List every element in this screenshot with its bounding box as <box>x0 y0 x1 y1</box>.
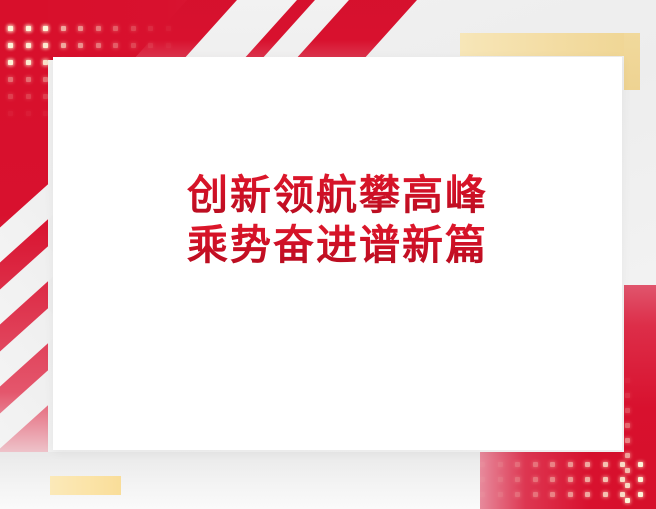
decor-dot <box>480 492 485 497</box>
page-title: 创新领航攀高峰 乘势奋进谱新篇 <box>53 170 622 270</box>
decor-dot <box>533 462 538 467</box>
decor-dot <box>568 492 573 497</box>
decor-dot <box>8 111 13 116</box>
dot-matrix-top-left-column <box>8 26 45 116</box>
decor-dot <box>480 477 485 482</box>
gold-accent-bar-bottom-left <box>50 476 121 495</box>
decor-dot <box>550 492 555 497</box>
decor-dot <box>43 77 48 82</box>
decor-dot <box>603 477 608 482</box>
decor-dot <box>148 26 153 31</box>
decor-dot <box>625 498 630 503</box>
decor-dot <box>113 43 118 48</box>
decor-dot <box>625 408 630 413</box>
gold-bracket-vertical-icon <box>624 33 640 90</box>
decor-dot <box>8 94 13 99</box>
decor-dot <box>585 462 590 467</box>
decor-dot <box>96 43 101 48</box>
decor-dot <box>550 462 555 467</box>
decor-dot <box>26 43 31 48</box>
title-line-1: 创新领航攀高峰 <box>53 170 622 220</box>
decor-dot <box>43 26 48 31</box>
decor-dot <box>8 77 13 82</box>
decor-dot <box>550 477 555 482</box>
decor-dot <box>625 438 630 443</box>
decor-dot <box>498 477 503 482</box>
poster-canvas: 创新领航攀高峰 乘势奋进谱新篇 <box>0 0 656 509</box>
decor-dot <box>625 393 630 398</box>
decor-dot <box>131 26 136 31</box>
decor-dot <box>625 453 630 458</box>
decor-dot <box>26 111 31 116</box>
decor-dot <box>78 43 83 48</box>
decor-dot <box>8 26 13 31</box>
decor-dot <box>26 77 31 82</box>
decor-dot <box>498 462 503 467</box>
decor-dot <box>625 483 630 488</box>
decor-dot <box>568 477 573 482</box>
decor-dot <box>533 477 538 482</box>
decor-dot <box>498 492 503 497</box>
decor-dot <box>96 26 101 31</box>
dot-matrix-bottom-right <box>480 462 648 506</box>
decor-dot <box>603 492 608 497</box>
decor-dot <box>515 477 520 482</box>
dot-matrix-right-column <box>625 378 645 506</box>
decor-dot <box>625 468 630 473</box>
decor-dot <box>568 462 573 467</box>
decor-dot <box>43 60 48 65</box>
decor-dot <box>585 492 590 497</box>
title-line-2: 乘势奋进谱新篇 <box>53 220 622 270</box>
decor-dot <box>166 26 171 31</box>
decor-dot <box>603 462 608 467</box>
decor-dot <box>113 26 118 31</box>
decor-dot <box>61 26 66 31</box>
decor-dot <box>515 492 520 497</box>
decor-dot <box>43 94 48 99</box>
decor-dot <box>43 111 48 116</box>
decor-dot <box>26 94 31 99</box>
gold-bracket-horizontal-icon <box>460 33 640 56</box>
decor-dot <box>480 462 485 467</box>
decor-dot <box>26 26 31 31</box>
decor-dot <box>61 43 66 48</box>
decor-dot <box>515 462 520 467</box>
decor-dot <box>43 43 48 48</box>
decor-dot <box>26 60 31 65</box>
decor-dot <box>8 43 13 48</box>
decor-dot <box>78 26 83 31</box>
decor-dot <box>166 43 171 48</box>
decor-dot <box>625 378 630 383</box>
decor-dot <box>533 492 538 497</box>
decor-dot <box>585 477 590 482</box>
decor-dot <box>8 60 13 65</box>
decor-dot <box>131 43 136 48</box>
decor-dot <box>625 423 630 428</box>
decor-dot <box>148 43 153 48</box>
